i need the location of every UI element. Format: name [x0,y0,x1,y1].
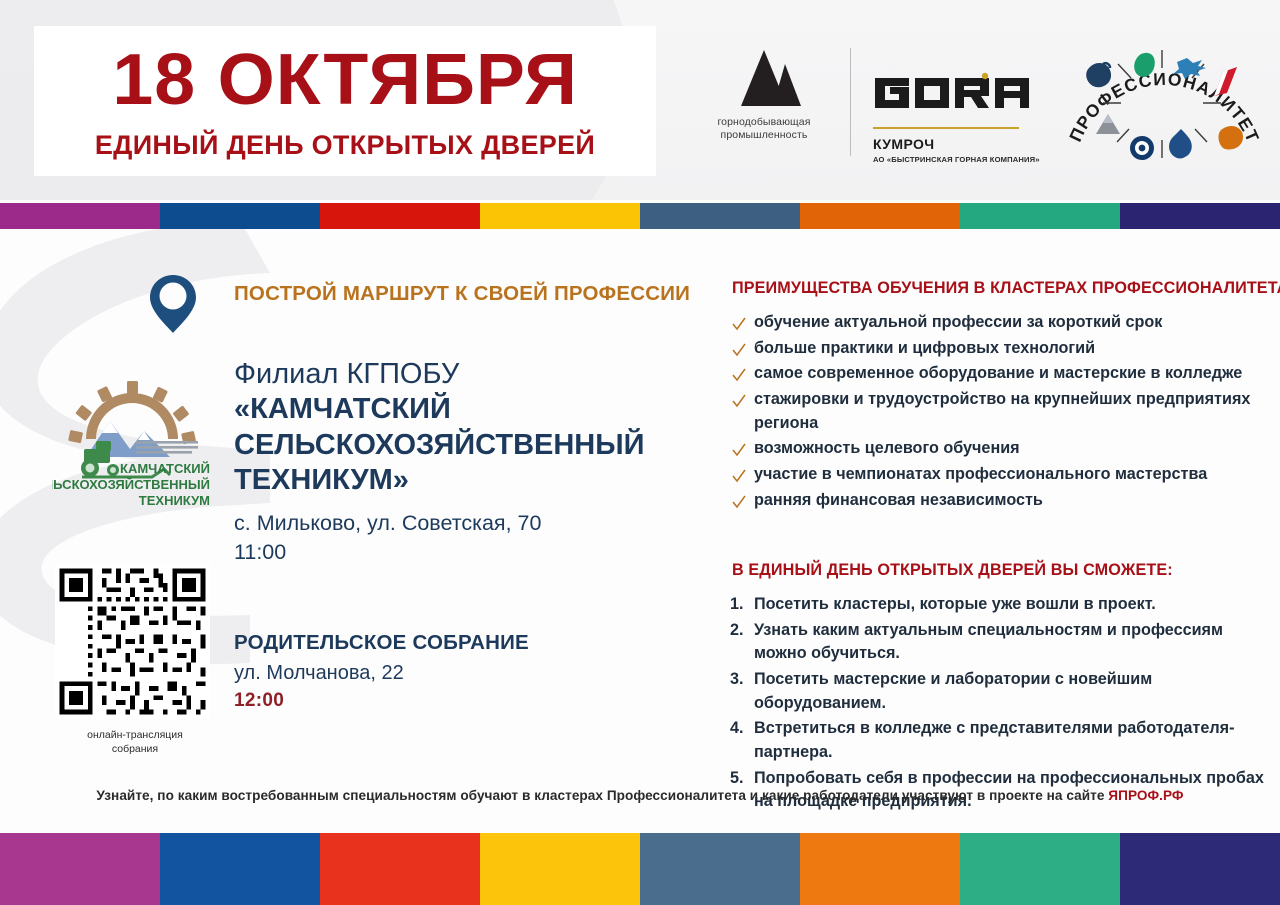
gora-wordmark [873,70,1031,122]
advantage-item: возможность целевого обучения [732,437,1252,461]
stripe-8 [1120,203,1280,229]
gora-wordmark-glyphs [873,70,1031,116]
activity-text: Узнать каким актуальным специальностям и… [754,621,1223,663]
kamchatka-agricultural-college-emblem: КАМЧАТСКИЙ СЕЛЬСКОХОЗЯЙСТВЕННЫЙ ТЕХНИКУМ [52,379,212,509]
activity-number: 3. [730,668,744,692]
event-subtitle: ЕДИНЫЙ ДЕНЬ ОТКРЫТЫХ ДВЕРЕЙ [95,132,595,159]
flame-icon [1218,126,1243,149]
date-card: 18 ОКТЯБРЯ ЕДИНЫЙ ДЕНЬ ОТКРЫТЫХ ДВЕРЕЙ [34,26,656,176]
activity-text: Встретиться в колледже с представителями… [754,719,1234,761]
activity-number: 4. [730,717,744,741]
qr-caption-line2: собрания [112,743,158,755]
school-address: с. Мильково, ул. Советская, 70 [234,509,684,538]
school-info-block: Филиал КГПОБУ «КАМЧАТСКИЙ СЕЛЬСКОХОЗЯЙСТ… [234,357,684,567]
parent-meeting-block: РОДИТЕЛЬСКОЕ СОБРАНИЕ ул. Молчанова, 22 … [234,631,654,712]
parent-meeting-time: 12:00 [234,690,654,712]
stripe-7 [960,203,1120,229]
stripe-b8 [1120,833,1280,905]
stripe-4 [480,203,640,229]
footer-site-link[interactable]: ЯПРОФ.РФ [1108,788,1183,803]
gora-sub-label: КУМРОЧ [873,136,935,152]
qr-caption-line1: онлайн-трансляция [87,729,183,741]
check-icon [732,467,746,481]
activity-item: 1.Посетить кластеры, которые уже вошли в… [730,593,1270,617]
qr-block[interactable]: онлайн-трансляция собрания [55,564,215,756]
activity-number: 2. [730,619,744,643]
advantage-text: стажировки и трудоустройство на крупнейш… [754,390,1250,432]
activity-number: 1. [730,593,744,617]
advantage-text: ранняя финансовая независимость [754,491,1043,509]
color-stripes-bottom [0,833,1280,905]
blueberry-icon [1086,63,1111,87]
gauge-icon [1130,136,1154,160]
gora-rule [873,127,1019,129]
stripe-b2 [160,833,320,905]
check-icon [732,441,746,455]
school-time: 11:00 [234,538,684,567]
advantage-item: самое современное оборудование и мастерс… [732,362,1252,386]
qr-code[interactable] [55,564,210,719]
logo-divider [850,48,851,156]
location-pin-icon [148,273,198,340]
leaf-icon [1134,53,1155,77]
mining-caption-line1: горнодобывающая [717,116,810,128]
stripe-b6 [800,833,960,905]
activity-item: 3.Посетить мастерские и лаборатории с но… [730,668,1270,715]
activity-text: Посетить мастерские и лаборатории с нове… [754,670,1152,712]
emblem-line1: КАМЧАТСКИЙ [120,461,210,476]
stripe-b7 [960,833,1120,905]
footer-note-text: Узнайте, по каким востребованным специал… [96,788,1108,803]
check-icon [732,315,746,329]
left-kicker: ПОСТРОЙ МАРШРУТ К СВОЕЙ ПРОФЕССИИ [234,282,690,306]
parent-meeting-title: РОДИТЕЛЬСКОЕ СОБРАНИЕ [234,631,654,655]
advantages-heading: ПРЕИМУЩЕСТВА ОБУЧЕНИЯ В КЛАСТЕРАХ ПРОФЕС… [732,279,1280,298]
school-name-main: «КАМЧАТСКИЙ СЕЛЬСКОХОЗЯЙСТВЕННЫЙ ТЕХНИКУ… [234,393,644,496]
left-column: ПОСТРОЙ МАРШРУТ К СВОЕЙ ПРОФЕССИИ [0,229,700,833]
advantage-text: возможность целевого обучения [754,439,1020,457]
advantages-list: обучение актуальной профессии за коротки… [732,311,1252,514]
professionalitet-mark: ПРОФЕССИОНАЛИТЕТ [1055,2,1270,192]
advantage-text: участие в чемпионатах профессионального … [754,465,1207,483]
event-date: 18 ОКТЯБРЯ [112,44,577,116]
poster-root: 18 ОКТЯБРЯ ЕДИНЫЙ ДЕНЬ ОТКРЫТЫХ ДВЕРЕЙ г… [0,0,1280,905]
mining-logo-caption: горнодобывающая промышленность [717,116,810,143]
stripe-3 [320,203,480,229]
check-icon [732,341,746,355]
stripe-b5 [640,833,800,905]
activity-item: 2.Узнать каким актуальным специальностям… [730,619,1270,666]
advantage-item: стажировки и трудоустройство на крупнейш… [732,388,1252,435]
stripe-2 [160,203,320,229]
advantage-item: участие в чемпионатах профессионального … [732,463,1252,487]
activities-heading: В ЕДИНЫЙ ДЕНЬ ОТКРЫТЫХ ДВЕРЕЙ ВЫ СМОЖЕТЕ… [732,561,1173,580]
school-name: Филиал КГПОБУ «КАМЧАТСКИЙ СЕЛЬСКОХОЗЯЙСТ… [234,357,684,499]
mining-industry-logo: горнодобывающая промышленность [700,48,828,143]
advantage-item: ранняя финансовая независимость [732,489,1252,513]
gora-company-label: АО «БЫСТРИНСКАЯ ГОРНАЯ КОМПАНИЯ» [873,155,1040,164]
poster-header: 18 ОКТЯБРЯ ЕДИНЫЙ ДЕНЬ ОТКРЫТЫХ ДВЕРЕЙ г… [0,0,1280,200]
footer-note: Узнайте, по каким востребованным специал… [0,788,1280,803]
advantage-text: больше практики и цифровых технологий [754,339,1095,357]
qr-caption: онлайн-трансляция собрания [55,728,215,756]
gora-kumroch-logo: КУМРОЧ АО «БЫСТРИНСКАЯ ГОРНАЯ КОМПАНИЯ» [873,48,1040,164]
stripe-b1 [0,833,160,905]
check-icon [732,392,746,406]
color-stripes-top [0,203,1280,229]
advantage-text: обучение актуальной профессии за коротки… [754,313,1162,331]
right-column: ПРЕИМУЩЕСТВА ОБУЧЕНИЯ В КЛАСТЕРАХ ПРОФЕС… [700,229,1280,833]
mountain-icon [725,48,803,110]
mining-caption-line2: промышленность [721,129,808,141]
activity-text: Посетить кластеры, которые уже вошли в п… [754,595,1156,613]
check-icon [732,366,746,380]
stripe-b4 [480,833,640,905]
drop-icon [1169,129,1192,159]
stripe-b3 [320,833,480,905]
school-name-prefix: Филиал КГПОБУ [234,358,459,390]
emblem-line3: ТЕХНИКУМ [139,493,210,508]
partner-logos: горнодобывающая промышленность [700,48,1040,166]
fabric-icon [1214,67,1237,96]
activity-number: 5. [730,767,744,791]
parent-meeting-address: ул. Молчанова, 22 [234,662,654,685]
activity-item: 4.Встретиться в колледже с представителя… [730,717,1270,764]
check-icon [732,493,746,507]
poster-body: ПОСТРОЙ МАРШРУТ К СВОЕЙ ПРОФЕССИИ [0,229,1280,833]
stripe-5 [640,203,800,229]
emblem-line2: СЕЛЬСКОХОЗЯЙСТВЕННЫЙ [52,477,210,492]
advantage-item: больше практики и цифровых технологий [732,337,1252,361]
advantage-text: самое современное оборудование и мастерс… [754,364,1242,382]
stripe-1 [0,203,160,229]
stripe-6 [800,203,960,229]
advantage-item: обучение актуальной профессии за коротки… [732,311,1252,335]
activities-list: 1.Посетить кластеры, которые уже вошли в… [730,593,1270,816]
